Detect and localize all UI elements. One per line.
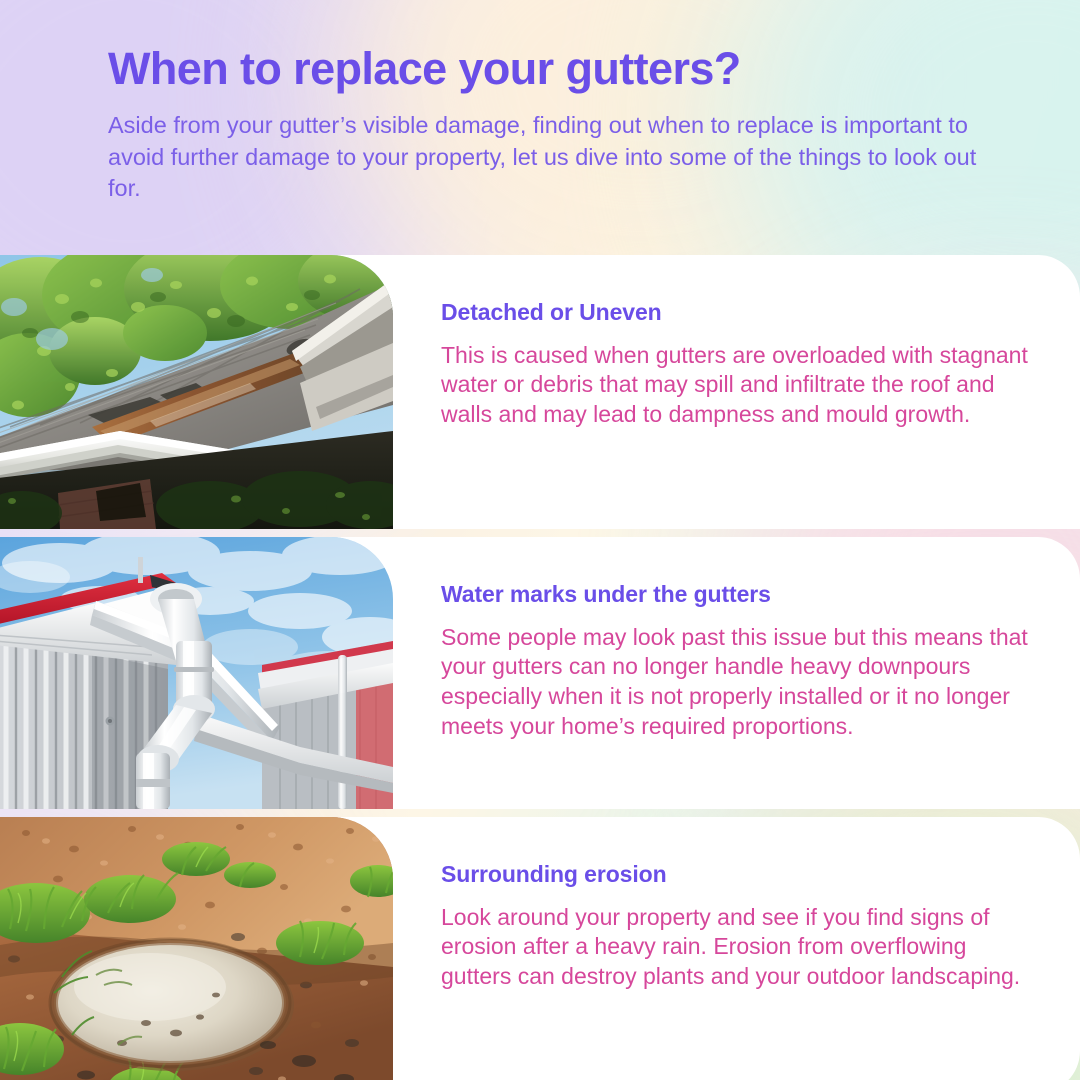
tip-card-body: Surrounding erosion Look around your pro…: [393, 817, 1080, 1022]
detached-uneven-gutter-photo: [0, 255, 393, 529]
tip-card-surrounding-erosion: Surrounding erosion Look around your pro…: [0, 817, 1080, 1080]
detached-uneven-gutter-illustration: [0, 255, 393, 529]
tip-card-body: Water marks under the gutters Some peopl…: [393, 537, 1080, 772]
tip-card-detached-or-uneven: Detached or Uneven This is caused when g…: [0, 255, 1080, 529]
water-marks-gutter-illustration: [0, 537, 393, 809]
tip-card-text: Some people may look past this issue but…: [441, 623, 1038, 743]
page-title: When to replace your gutters?: [108, 44, 1008, 94]
tip-card-heading: Water marks under the gutters: [441, 581, 1038, 609]
tip-card-heading: Surrounding erosion: [441, 861, 1038, 889]
tip-card-body: Detached or Uneven This is caused when g…: [393, 255, 1080, 460]
surrounding-erosion-illustration: [0, 817, 393, 1080]
page-subtitle: Aside from your gutter’s visible damage,…: [108, 110, 988, 204]
tip-card-text: Look around your property and see if you…: [441, 903, 1038, 993]
header: When to replace your gutters? Aside from…: [108, 44, 1008, 204]
tip-card-heading: Detached or Uneven: [441, 299, 1038, 327]
surrounding-erosion-photo: [0, 817, 393, 1080]
water-marks-gutter-photo: [0, 537, 393, 809]
tip-card-text: This is caused when gutters are overload…: [441, 341, 1038, 431]
tip-card-water-marks: Water marks under the gutters Some peopl…: [0, 537, 1080, 809]
infographic-canvas: When to replace your gutters? Aside from…: [0, 0, 1080, 1080]
tips-card-list: Detached or Uneven This is caused when g…: [0, 255, 1080, 1080]
